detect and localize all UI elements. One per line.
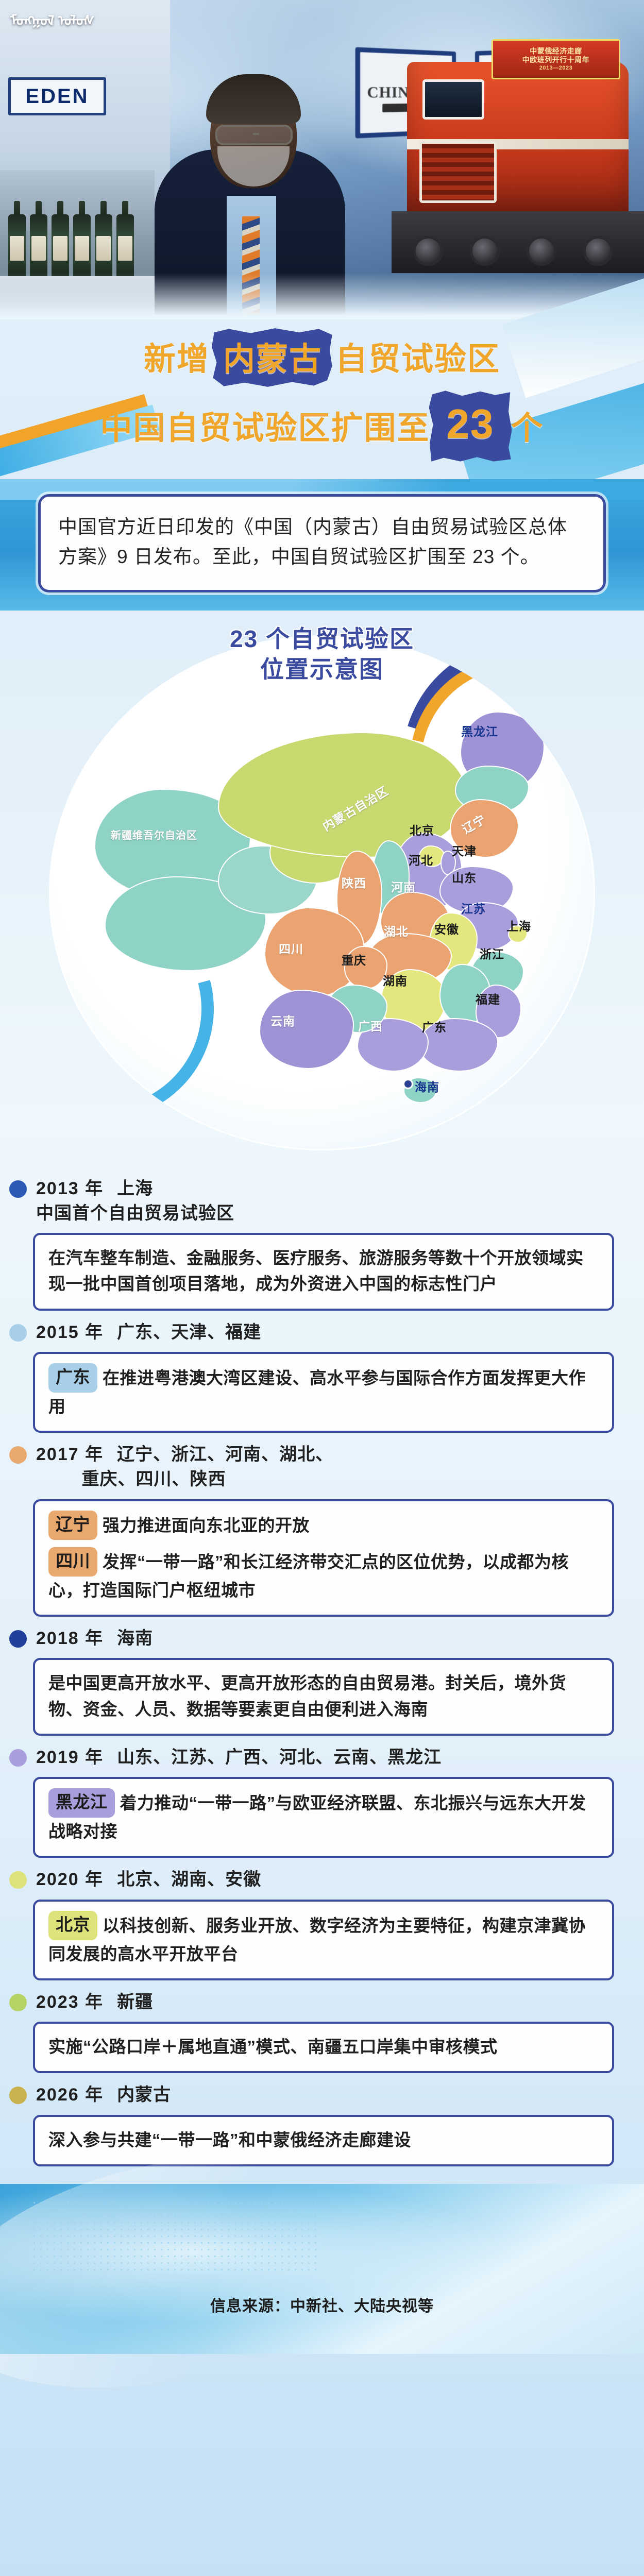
timeline-tag-text-guangdong: 在推进粤港澳大湾区建设、高水平参与国际合作方面发挥更大作用 [48,1368,586,1416]
timeline-card-2023: 实施“公路口岸＋属地直通”模式、南疆五口岸集中审核模式 [33,2022,614,2073]
timeline-regions-2015: 广东、天津、福建 [117,1323,261,1342]
map-label-henan: 河南 [391,877,416,895]
timeline-bullet-2023 [9,1994,27,2011]
timeline-year-2019: 2019 年 [36,1748,104,1767]
timeline-card-2013: 在汽车整车制造、金融服务、医疗服务、旅游服务等数十个开放领域实现一批中国首创项目… [33,1233,614,1310]
timeline-head-2017: 2017 年辽宁、浙江、河南、湖北、 重庆、四川、陕西 [33,1442,614,1492]
map-label-jiangsu: 江苏 [461,899,486,917]
timeline-paragraph-2015: 广东在推进粤港澳大湾区建设、高水平参与国际合作方面发挥更大作用 [48,1364,599,1419]
timeline-regions-2013: 上海 [117,1179,153,1198]
map-label-shaanxi: 陕西 [342,873,366,891]
main-title-line-2: 中国自贸试验区扩围至 23 个 [0,402,644,448]
hero-photo: EDEN CHINGGIS [0,0,644,319]
timeline-tag-text-liaoning: 强力推进面向东北亚的开放 [103,1516,310,1535]
timeline-regions-2026: 内蒙古 [117,2085,171,2105]
map-title: 23 个自贸试验区 位置示意图 [0,624,644,685]
timeline-paragraph-2013: 在汽车整车制造、金融服务、医疗服务、旅游服务等数十个开放领域实现一批中国首创项目… [48,1245,599,1297]
timeline-card-2019: 黑龙江着力推动“一带一路”与欧亚经济联盟、东北振兴与远东大开发战略对接 [33,1777,614,1858]
timeline-bullet-2026 [9,2087,27,2104]
timeline-item-2020: 2020 年北京、湖南、安徽 北京以科技创新、服务业开放、数字经济为主要特征，构… [0,1867,644,1980]
timeline-tag-liaoning: 辽宁 [48,1511,97,1540]
timeline-subtitle-2013: 中国首个自由贸易试验区 [36,1201,234,1226]
timeline-tag-text-sichuan: 发挥“一带一路”和长江经济带交汇点的区位优势，以成都为核心，打造国际门户枢纽城市 [48,1552,569,1600]
map-label-hubei: 湖北 [384,922,409,939]
map-label-tianjin: 天津 [452,841,477,859]
map-marker-hainan [404,1080,412,1088]
title2-prefix: 中国自贸试验区扩围至 [100,402,430,448]
map-title-line-2: 位置示意图 [0,654,644,685]
timeline-head-text-2019: 2019 年山东、江苏、广西、河北、云南、黑龙江 [36,1745,442,1770]
timeline-year-2018: 2018 年 [36,1629,104,1648]
map-label-guangxi: 广西 [358,1016,383,1034]
map-label-guangdong: 广东 [422,1018,447,1035]
timeline-card-2017: 辽宁强力推进面向东北亚的开放 四川发挥“一带一路”和长江经济带交汇点的区位优势，… [33,1499,614,1617]
timeline-bullet-2020 [9,1871,27,1889]
timeline-bullet-2018 [9,1630,27,1648]
footer-dots-decor [31,2199,319,2272]
timeline-tag-beijing: 北京 [48,1911,97,1940]
map-label-hebei: 河北 [409,851,433,868]
map-title-line-1: 23 个自贸试验区 [0,624,644,654]
train-banner-line1: 中蒙俄经济走廊 [530,47,582,56]
locomotive-window [422,79,484,120]
map-label-heilongjiang: 黑龙江 [461,722,498,739]
timeline-item-2017: 2017 年辽宁、浙江、河南、湖北、 重庆、四川、陕西 辽宁强力推进面向东北亚的… [0,1442,644,1617]
map-label-chongqing: 重庆 [342,951,366,968]
map-label-shanghai: 上海 [506,917,531,934]
title-prefix: 新增 [144,333,210,379]
train-banner-line3: 2013—2023 [539,65,572,72]
timeline-year-2015: 2015 年 [36,1323,104,1342]
timeline-regions-2017-line2: 重庆、四川、陕西 [36,1467,333,1492]
timeline-regions-2020: 北京、湖南、安徽 [117,1870,261,1889]
freight-train: 中蒙俄经济走廊 中欧班列开行十周年 2013—2023 [381,31,644,273]
china-map: 黑龙江 新疆维吾尔自治区 内蒙古自治区 辽宁 北京 天津 河北 山东 陕西 河南… [49,635,595,1150]
timeline-head-2018: 2018 年海南 [33,1626,614,1651]
map-label-hunan: 湖南 [383,971,408,989]
timeline-head-text-2023: 2023 年新疆 [36,1990,153,2014]
map-label-zhejiang: 浙江 [480,944,504,962]
train-banner-line2: 中欧班列开行十周年 [522,56,590,65]
locomotive-grill [419,141,497,203]
map-section: 23 个自贸试验区 位置示意图 [0,611,644,1156]
train-deck [392,211,644,273]
timeline-paragraph-2023: 实施“公路口岸＋属地直通”模式、南疆五口岸集中审核模式 [48,2034,599,2060]
title2-number-badge: 23 [435,403,506,447]
timeline-item-2026: 2026 年内蒙古 深入参与共建“一带一路”和中蒙俄经济走廊建设 [0,2082,644,2166]
map-label-beijing: 北京 [410,821,434,838]
train-banner: 中蒙俄经济走廊 中欧班列开行十周年 2013—2023 [492,39,620,79]
timeline-card-2015: 广东在推进粤港澳大湾区建设、高水平参与国际合作方面发挥更大作用 [33,1352,614,1433]
timeline-head-text-2020: 2020 年北京、湖南、安徽 [36,1867,261,1892]
main-title-line-1: 新增 内蒙古 自贸试验区 [0,332,644,380]
timeline-year-2023: 2023 年 [36,1992,104,2012]
map-label-anhui: 安徽 [434,920,459,937]
timeline-head-text-2015: 2015 年广东、天津、福建 [36,1320,261,1345]
timeline-regions-2023: 新疆 [117,1992,153,2012]
timeline-tag-heilongjiang: 黑龙江 [48,1788,115,1818]
title-suffix: 自贸试验区 [335,333,500,379]
map-label-xinjiang: 新疆维吾尔自治区 [111,827,197,842]
timeline-year-2017: 2017 年 [36,1445,104,1464]
footer-source: 信息来源：中新社、大陆央视等 [0,2293,644,2316]
timeline-head-text-2017: 2017 年辽宁、浙江、河南、湖北、 重庆、四川、陕西 [36,1442,333,1492]
intro-paragraph: 中国官方近日印发的《中国（内蒙古）自由贸易试验区总体方案》9 日发布。至此，中国… [58,512,586,572]
timeline-head-2019: 2019 年山东、江苏、广西、河北、云南、黑龙江 [33,1745,614,1770]
timeline-tag-sichuan: 四川 [48,1547,97,1577]
timeline-item-2023: 2023 年新疆 实施“公路口岸＋属地直通”模式、南疆五口岸集中审核模式 [0,1990,644,2073]
intro-card: 中国官方近日印发的《中国（内蒙古）自由贸易试验区总体方案》9 日发布。至此，中国… [41,497,603,590]
timeline-paragraph-2017-a: 辽宁强力推进面向东北亚的开放 [48,1512,599,1541]
timeline-card-2018: 是中国更高开放水平、更高开放形态的自由贸易港。封关后，境外货物、资金、人员、数据… [33,1658,614,1735]
title-section: 新增 内蒙古 自贸试验区 中国自贸试验区扩围至 23 个 [0,319,644,479]
map-label-shandong: 山东 [452,868,477,886]
map-label-sichuan: 四川 [279,939,303,957]
map-label-hainan: 海南 [415,1077,439,1095]
timeline-year-2013: 2013 年 [36,1179,104,1198]
timeline-tag-text-heilongjiang: 着力推动“一带一路”与欧亚经济联盟、东北振兴与远东大开发战略对接 [48,1793,586,1841]
timeline-tag-guangdong: 广东 [48,1363,97,1393]
infographic-page: EDEN CHINGGIS [0,0,644,2576]
mongolian-script-label: ᠮᠣᠩᠭᠣᠯ ᠤᠯᠤᠰ [5,3,99,30]
timeline-item-2018: 2018 年海南 是中国更高开放水平、更高开放形态的自由贸易港。封关后，境外货物… [0,1626,644,1736]
timeline-paragraph-2026: 深入参与共建“一带一路”和中蒙俄经济走廊建设 [48,2127,599,2153]
timeline-head-text-2026: 2026 年内蒙古 [36,2082,171,2107]
timeline-head-2013: 2013 年上海 中国首个自由贸易试验区 [33,1176,614,1226]
timeline-card-2026: 深入参与共建“一带一路”和中蒙俄经济走廊建设 [33,2115,614,2166]
locomotive-body [407,62,629,216]
title2-suffix: 个 [511,402,544,448]
timeline-section: 2013 年上海 中国首个自由贸易试验区 在汽车整车制造、金融服务、医疗服务、旅… [0,1156,644,2166]
intro-section: 中国官方近日印发的《中国（内蒙古）自由贸易试验区总体方案》9 日发布。至此，中国… [0,479,644,611]
map-label-fujian: 福建 [476,990,500,1007]
timeline-item-2013: 2013 年上海 中国首个自由贸易试验区 在汽车整车制造、金融服务、医疗服务、旅… [0,1176,644,1311]
timeline-head-text-2013: 2013 年上海 中国首个自由贸易试验区 [36,1176,234,1226]
timeline-paragraph-2017-b: 四川发挥“一带一路”和长江经济带交汇点的区位优势，以成都为核心，打造国际门户枢纽… [48,1548,599,1603]
timeline-regions-2019: 山东、江苏、广西、河北、云南、黑龙江 [117,1748,442,1767]
timeline-bullet-2015 [9,1324,27,1342]
timeline-year-2026: 2026 年 [36,2085,104,2105]
footer-section: 信息来源：中新社、大陆央视等 [0,2184,644,2354]
timeline-head-text-2018: 2018 年海南 [36,1626,153,1651]
glasses-icon [215,125,293,145]
exhibition-booth-left: EDEN [0,0,170,319]
timeline-head-2026: 2026 年内蒙古 [33,2082,614,2107]
timeline-regions-2018: 海南 [117,1629,153,1648]
booth-sign-eden: EDEN [8,77,106,115]
timeline-head-2020: 2020 年北京、湖南、安徽 [33,1867,614,1892]
timeline-regions-2017: 辽宁、浙江、河南、湖北、 [117,1445,333,1464]
timeline-paragraph-2020: 北京以科技创新、服务业开放、数字经济为主要特征，构建京津冀协同发展的高水平开放平… [48,1912,599,1967]
timeline-tag-text-beijing: 以科技创新、服务业开放、数字经济为主要特征，构建京津冀协同发展的高水平开放平台 [48,1916,586,1963]
timeline-bullet-2013 [9,1180,27,1198]
timeline-paragraph-2018: 是中国更高开放水平、更高开放形态的自由贸易港。封关后，境外货物、资金、人员、数据… [48,1670,599,1722]
timeline-bullet-2019 [9,1749,27,1767]
timeline-item-2019: 2019 年山东、江苏、广西、河北、云南、黑龙江 黑龙江着力推动“一带一路”与欧… [0,1745,644,1858]
timeline-head-2015: 2015 年广东、天津、福建 [33,1320,614,1345]
timeline-item-2015: 2015 年广东、天津、福建 广东在推进粤港澳大湾区建设、高水平参与国际合作方面… [0,1320,644,1433]
timeline-year-2020: 2020 年 [36,1870,104,1889]
map-label-yunnan: 云南 [270,1011,295,1029]
timeline-paragraph-2019: 黑龙江着力推动“一带一路”与欧亚经济联盟、东北振兴与远东大开发战略对接 [48,1789,599,1844]
timeline-head-2023: 2023 年新疆 [33,1990,614,2014]
title-highlight-region: 内蒙古 [215,332,330,380]
timeline-card-2020: 北京以科技创新、服务业开放、数字经济为主要特征，构建京津冀协同发展的高水平开放平… [33,1900,614,1980]
timeline-bullet-2017 [9,1446,27,1464]
